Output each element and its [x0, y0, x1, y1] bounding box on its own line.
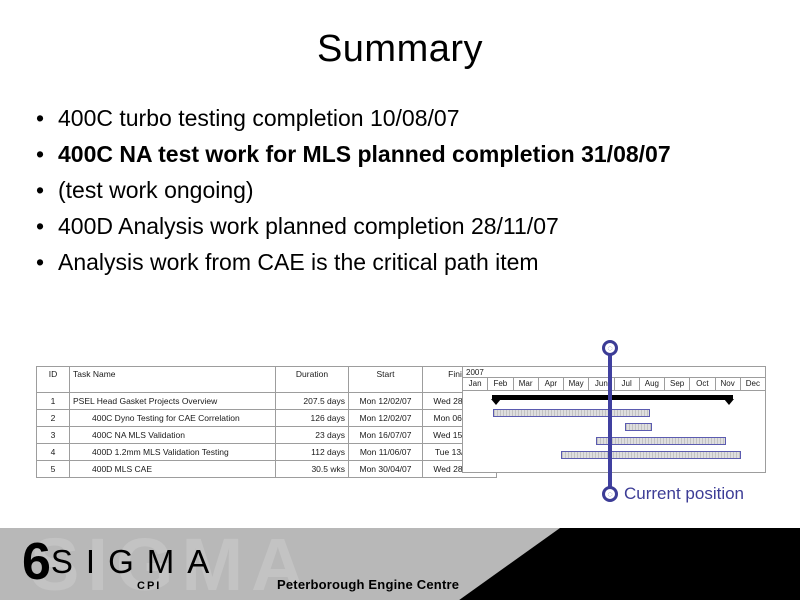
timeline-month-header: Jan Feb Mar Apr May Jun Jul Aug Sep Oct …: [463, 378, 765, 391]
month-cell-may: May: [564, 378, 589, 390]
gantt-chart: ID Task Name Duration Start Finish 1 PSE…: [36, 366, 766, 486]
bullet-icon: •: [36, 136, 44, 172]
table-row[interactable]: 5 400D MLS CAE 30.5 wks Mon 30/04/07 Wed…: [37, 461, 497, 478]
list-item: • (test work ongoing): [30, 172, 780, 208]
table-row[interactable]: 3 400C NA MLS Validation 23 days Mon 16/…: [37, 427, 497, 444]
list-item-label: 400D Analysis work planned completion 28…: [58, 213, 559, 239]
cell-task: 400D MLS CAE: [70, 461, 276, 478]
cell-duration: 207.5 days: [276, 393, 349, 410]
current-position-handle-bottom-icon[interactable]: ◌: [602, 486, 618, 502]
logo-cpi-text: CPI: [137, 580, 161, 592]
gantt-bar-row: [463, 420, 765, 434]
timeline-year-label: 2007: [463, 367, 765, 378]
month-cell-oct: Oct: [690, 378, 715, 390]
table-row[interactable]: 1 PSEL Head Gasket Projects Overview 207…: [37, 393, 497, 410]
column-header-duration: Duration: [276, 367, 349, 393]
cell-duration: 126 days: [276, 410, 349, 427]
month-cell-sep: Sep: [665, 378, 690, 390]
cell-start: Mon 12/02/07: [349, 393, 423, 410]
gantt-task-bar[interactable]: [561, 451, 741, 459]
list-item: • 400D Analysis work planned completion …: [30, 208, 780, 244]
bullet-icon: •: [36, 172, 44, 208]
gantt-bar-row: [463, 434, 765, 448]
gantt-task-bar[interactable]: [625, 423, 652, 431]
cell-id: 2: [37, 410, 70, 427]
gantt-task-bar[interactable]: [493, 409, 650, 417]
month-cell-mar: Mar: [514, 378, 539, 390]
bullet-list: • 400C turbo testing completion 10/08/07…: [30, 100, 780, 280]
cell-task: 400D 1.2mm MLS Validation Testing: [70, 444, 276, 461]
month-cell-apr: Apr: [539, 378, 564, 390]
list-item-label: 400C turbo testing completion 10/08/07: [58, 105, 460, 131]
table-row[interactable]: 2 400C Dyno Testing for CAE Correlation …: [37, 410, 497, 427]
list-item-label: Analysis work from CAE is the critical p…: [58, 249, 539, 275]
six-sigma-logo: 6SIGMA CPI: [22, 536, 222, 596]
list-item: • Analysis work from CAE is the critical…: [30, 244, 780, 280]
month-cell-jan: Jan: [463, 378, 488, 390]
list-item: • 400C NA test work for MLS planned comp…: [30, 136, 780, 172]
cell-task: 400C NA MLS Validation: [70, 427, 276, 444]
cell-duration: 23 days: [276, 427, 349, 444]
cell-start: Mon 12/02/07: [349, 410, 423, 427]
list-item-label: (test work ongoing): [58, 177, 254, 203]
gantt-task-bar[interactable]: [596, 437, 726, 445]
bullet-icon: •: [36, 100, 44, 136]
footer-band: SIGMA 6SIGMA CPI Peterborough Engine Cen…: [0, 528, 800, 600]
cell-id: 5: [37, 461, 70, 478]
cell-start: Mon 16/07/07: [349, 427, 423, 444]
gantt-bar-row: [463, 391, 765, 406]
cell-task: PSEL Head Gasket Projects Overview: [70, 393, 276, 410]
cell-id: 3: [37, 427, 70, 444]
cell-duration: 30.5 wks: [276, 461, 349, 478]
current-position-marker[interactable]: ◌ ◌ Current position: [608, 344, 610, 502]
table-header-row: ID Task Name Duration Start Finish: [37, 367, 497, 393]
column-header-start: Start: [349, 367, 423, 393]
month-cell-feb: Feb: [488, 378, 513, 390]
gantt-task-table: ID Task Name Duration Start Finish 1 PSE…: [36, 366, 497, 478]
column-header-id: ID: [37, 367, 70, 393]
month-cell-nov: Nov: [716, 378, 741, 390]
cell-start: Mon 30/04/07: [349, 461, 423, 478]
gantt-bar-row: [463, 406, 765, 420]
month-cell-dec: Dec: [741, 378, 765, 390]
bullet-icon: •: [36, 244, 44, 280]
cell-id: 1: [37, 393, 70, 410]
current-position-label: Current position: [624, 484, 744, 504]
gantt-timeline: 2007 Jan Feb Mar Apr May Jun Jul Aug Sep…: [462, 366, 766, 473]
cell-duration: 112 days: [276, 444, 349, 461]
page-title: Summary: [0, 28, 800, 71]
footer-title: Peterborough Engine Centre: [277, 577, 459, 592]
bullet-icon: •: [36, 208, 44, 244]
month-cell-jul: Jul: [615, 378, 640, 390]
gantt-summary-bar[interactable]: [492, 395, 734, 400]
month-cell-aug: Aug: [640, 378, 665, 390]
cell-start: Mon 11/06/07: [349, 444, 423, 461]
logo-six-glyph: 6: [22, 533, 51, 591]
gantt-bar-row: [463, 448, 765, 462]
table-row[interactable]: 4 400D 1.2mm MLS Validation Testing 112 …: [37, 444, 497, 461]
column-header-task: Task Name: [70, 367, 276, 393]
current-position-handle-top-icon[interactable]: ◌: [602, 340, 618, 356]
gantt-bar-area: [463, 391, 765, 472]
cell-task: 400C Dyno Testing for CAE Correlation: [70, 410, 276, 427]
logo-sigma-text: SIGMA: [51, 543, 222, 580]
cell-id: 4: [37, 444, 70, 461]
list-item-label: 400C NA test work for MLS planned comple…: [58, 141, 671, 167]
current-position-line: [608, 350, 612, 496]
list-item: • 400C turbo testing completion 10/08/07: [30, 100, 780, 136]
